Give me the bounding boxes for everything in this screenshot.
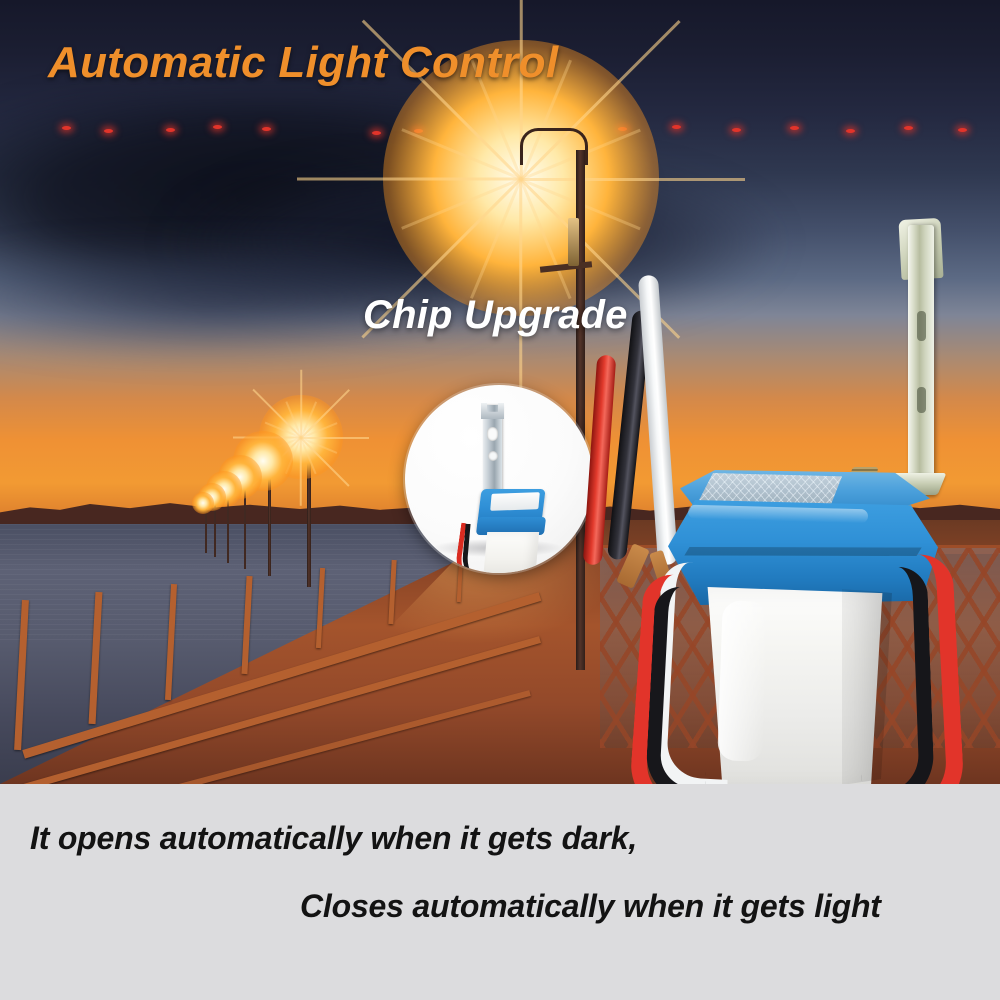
inset-bracket-keyhole: [487, 427, 498, 441]
pier-sunset-photo: Automatic Light Control Chip Upgrade: [0, 0, 1000, 784]
left-railing: [0, 540, 560, 784]
product-bracket-slot-lower: [917, 387, 926, 413]
horizon-red-light: [213, 125, 222, 129]
inset-black-wire: [461, 524, 501, 573]
main-lamp-arm: [520, 128, 588, 165]
caption-panel: It opens automatically when it gets dark…: [0, 784, 1000, 1000]
product-black-wire-left-loop: [644, 586, 715, 784]
horizon-red-light: [166, 128, 175, 132]
horizon-red-light: [672, 125, 681, 129]
horizon-red-light: [790, 126, 799, 130]
horizon-red-light: [262, 127, 271, 131]
inset-bracket-hole: [488, 451, 498, 461]
lamp-2-ray: [300, 370, 302, 438]
product-bracket-slot-upper: [917, 311, 926, 341]
caption-line-2: Closes automatically when it gets light: [300, 888, 881, 925]
inset-spec-label: [490, 492, 540, 511]
product-cap-groove: [674, 547, 932, 556]
product-poster: Automatic Light Control Chip Upgrade: [0, 0, 1000, 1000]
product-black-wire-loop: [854, 566, 935, 784]
horizon-red-light: [904, 126, 913, 130]
chip-upgrade-inset-circle: [405, 385, 593, 573]
horizon-red-light: [846, 129, 855, 133]
horizon-red-light: [958, 128, 967, 132]
caption-line-1: It opens automatically when it gets dark…: [30, 820, 637, 857]
horizon-red-light: [104, 129, 113, 133]
product-white-wire-upper: [638, 275, 678, 566]
horizon-red-light: [62, 126, 71, 130]
lamp-2-ray: [300, 438, 302, 506]
lamp-2-ray: [301, 437, 369, 439]
lamp-main-ray: [521, 178, 745, 181]
lamp-main-ray: [297, 178, 521, 181]
horizon-red-light: [372, 131, 381, 135]
page-title: Automatic Light Control: [48, 38, 558, 88]
horizon-red-light: [732, 128, 741, 132]
product-photocell-switch: [570, 215, 1000, 784]
lamp-main-ray: [520, 179, 523, 403]
product-bracket-vertical: [908, 225, 934, 490]
